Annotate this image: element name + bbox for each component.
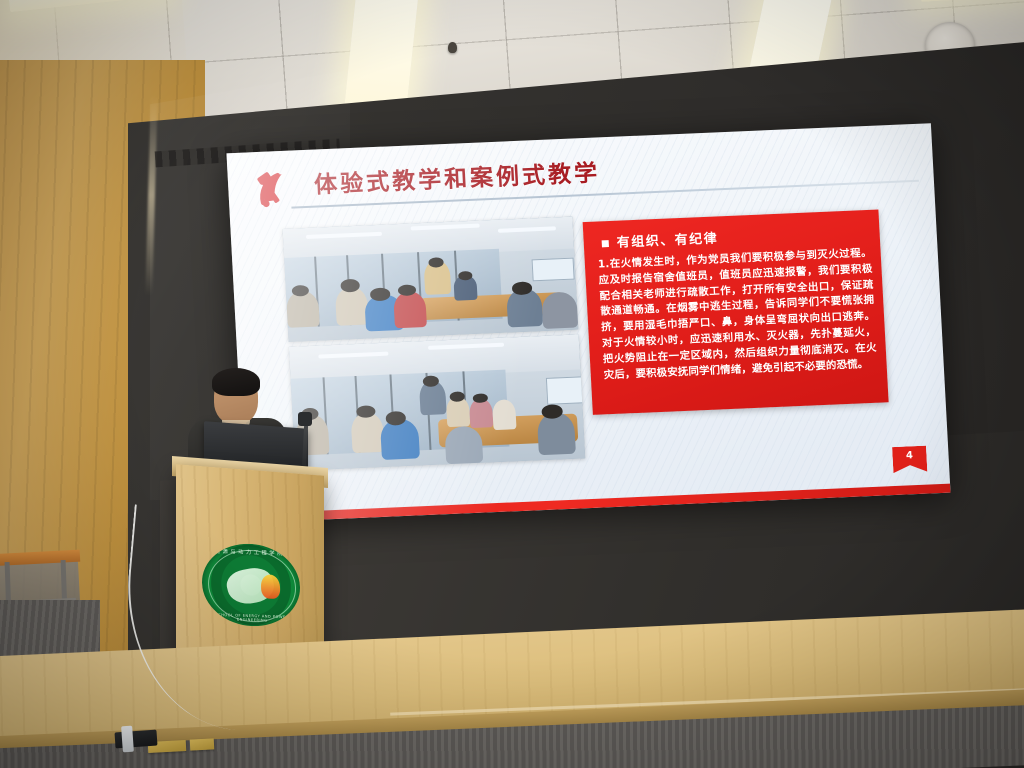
red-content-panel: 有组织、有纪律 1.在火情发生时，作为党员我们要积极参与到灭火过程。应及时报告宿… xyxy=(583,210,889,415)
floor-device-adapter[interactable] xyxy=(121,726,134,753)
presenter-hair xyxy=(212,368,260,396)
floor-outlet-cover-2[interactable] xyxy=(190,738,215,750)
microphone-icon xyxy=(298,412,312,426)
red-panel-heading-text: 有组织、有纪律 xyxy=(616,231,718,250)
red-panel-body-text: 1.在火情发生时，作为党员我们要积极参与到灭火过程。应及时报告宿舍值班员，值班员… xyxy=(598,246,878,384)
lecture-hall-scene: 体验式教学和案例式教学 xyxy=(0,0,1024,768)
podium-school-logo: 能源与动力工程学院 SCHOOL OF ENERGY AND POWER ENG… xyxy=(201,542,302,628)
sprinkler-head-icon-1 xyxy=(448,42,457,53)
projection-screen: 体验式教学和案例式教学 xyxy=(226,123,950,523)
presentation-slide: 体验式教学和案例式教学 xyxy=(226,123,950,523)
